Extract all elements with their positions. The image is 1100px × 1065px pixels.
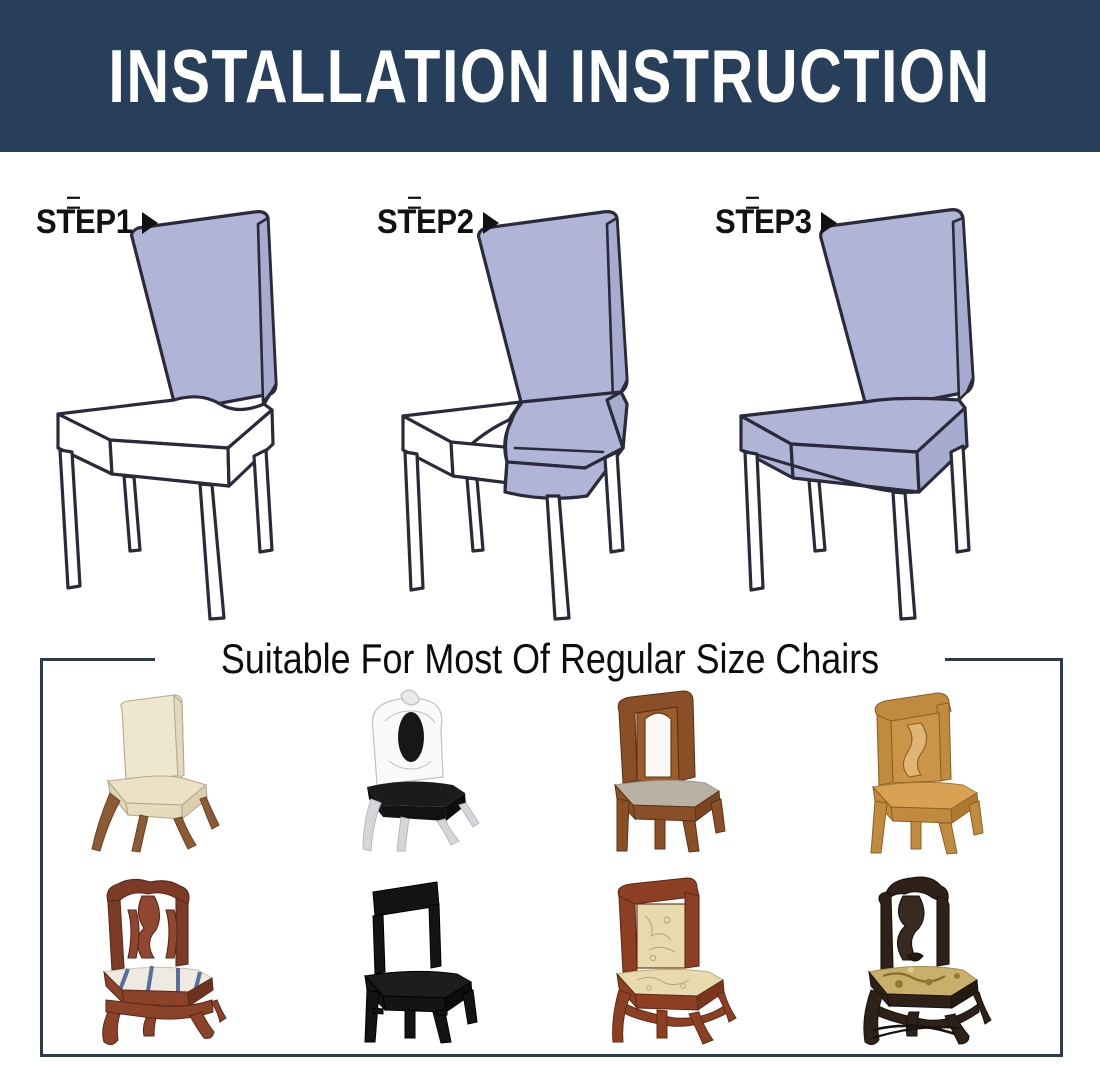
step-3-back-left-leg [809, 480, 825, 551]
leg-back-left [132, 815, 148, 852]
back-upholstery [637, 904, 685, 968]
leg-front-left [617, 799, 629, 851]
seat-cushion [367, 781, 465, 807]
steps-section: STEP1 [0, 152, 1100, 622]
step-2-label: STEP2 [377, 204, 499, 240]
triangle-right-icon [821, 212, 837, 234]
step-3-front-left-leg [745, 452, 763, 590]
leg-back-right [969, 801, 983, 835]
ball-claw-front-left [103, 1012, 120, 1045]
header-banner: INSTALLATION INSTRUCTION [0, 0, 1100, 152]
step-2-label-text: STEP2 [377, 202, 474, 242]
leg-back-right [463, 990, 477, 1024]
ball-claw-front-right [190, 1012, 214, 1038]
chair-photo-dark-wood-slotback [552, 676, 806, 865]
pierced-splat [138, 896, 160, 958]
leg-front-right [939, 823, 957, 854]
leg-back-left [657, 1010, 667, 1038]
triangle-right-icon [142, 212, 158, 234]
step-1-back-cover [132, 212, 276, 410]
pierced-splat [897, 896, 924, 960]
dark-wood-slot-back-chair-taupe-seat [579, 681, 779, 861]
chair-photo-cherry-floral [552, 865, 806, 1054]
leg-back-left [906, 1012, 919, 1036]
chair-photo-dark-antique [806, 865, 1060, 1054]
leg-front-right [174, 817, 196, 849]
leg-back-left [655, 819, 665, 849]
step-2: STEP2 [355, 152, 695, 622]
leg-front-left [363, 799, 381, 851]
leg-front-left [871, 801, 887, 853]
step-2-front-right-leg [547, 496, 569, 619]
chair-photo-silver-baroque [297, 676, 551, 865]
step-3-back-cover [821, 210, 973, 410]
suitable-chairs-title: Suitable For Most Of Regular Size Chairs [17, 636, 1084, 683]
step-1-front-right-leg [200, 484, 224, 619]
chair-photo-honey-oak [806, 676, 1060, 865]
black-wooden-slat-back-chair [329, 870, 519, 1050]
leg-front-right [683, 821, 699, 852]
leg-back-left [397, 817, 409, 851]
chair-photo-chippendale [43, 865, 297, 1054]
step-1-back-left-leg [124, 476, 140, 551]
suitable-chairs-grid [43, 676, 1060, 1054]
step-1-back-right-leg [254, 450, 272, 552]
leg-front-left [92, 793, 120, 851]
leg-back-left [405, 1010, 415, 1038]
cream-upholstered-chair-wood-legs [70, 681, 270, 861]
chair-photo-cream-upholstered [43, 676, 297, 865]
leg-front-left [365, 990, 379, 1042]
step-3-label: STEP3 [715, 204, 837, 240]
back-right-post [429, 904, 441, 968]
leg-back-right [200, 797, 219, 829]
back-left-post [373, 914, 385, 974]
leg-back-right [459, 803, 479, 827]
step-2-front-left-leg [405, 452, 423, 590]
step-3-back-right-leg [951, 446, 969, 552]
back-splat-inlay [398, 712, 424, 762]
honey-oak-splat-back-chair [833, 681, 1033, 861]
page-title: INSTALLATION INSTRUCTION [109, 32, 991, 119]
step-2-back-right-leg [605, 452, 623, 552]
step-1-label: STEP1 [36, 204, 158, 240]
step-2-back-cover [479, 212, 627, 410]
leg-front-right [437, 819, 459, 845]
step-1-label-text: STEP1 [36, 202, 133, 242]
leg-back-right [711, 799, 725, 833]
cherry-wood-chair-floral-upholstery [579, 870, 779, 1050]
step-1-front-left-leg [60, 450, 80, 588]
step-3: STEP3 [697, 152, 1037, 622]
leg-back-left [911, 821, 921, 849]
chippendale-mahogany-chair-striped-seat [70, 870, 270, 1050]
leg-front-left [612, 990, 630, 1042]
silver-baroque-chair-black-seat [329, 681, 519, 861]
step-3-label-text: STEP3 [715, 202, 812, 242]
step-1: STEP1 [14, 152, 354, 622]
leg-front-right [433, 1012, 451, 1043]
dark-carved-antique-chair-tapestry-seat [833, 870, 1033, 1050]
triangle-right-icon [483, 212, 499, 234]
step-2-back-left-leg [467, 478, 483, 551]
step-3-front-right-leg [893, 492, 915, 619]
chair-photo-black-slatback [297, 865, 551, 1054]
leg-back-left [143, 1018, 156, 1036]
leg-back-right [717, 992, 736, 1022]
